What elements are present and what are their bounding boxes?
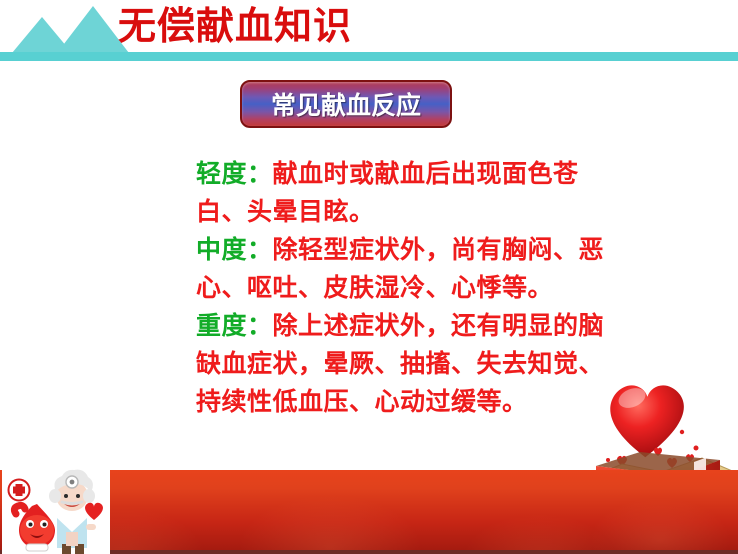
page-title: 无偿献血知识 [118, 1, 352, 51]
slide-header: 无偿献血知识 [0, 0, 738, 62]
red-cross-icon [9, 480, 30, 501]
doctor-blood-drop-mascot [2, 462, 110, 554]
bottom-band-edge [0, 550, 738, 554]
severity-paragraph-moderate: 中度：除轻型症状外，尚有胸闷、恶心、呕吐、皮肤湿冷、心悸等。 [196, 231, 626, 307]
section-badge: 常见献血反应 [240, 80, 452, 128]
section-badge-label: 常见献血反应 [242, 82, 450, 130]
bottom-decorative-band [0, 470, 738, 554]
severity-paragraph-mild: 轻度：献血时或献血后出现面色苍白、头晕目眩。 [196, 155, 626, 231]
slide-canvas: 无偿献血知识 常见献血反应 轻度：献血时或献血后出现面色苍白、头晕目眩。 中度：… [0, 0, 738, 554]
severity-label-severe: 重度： [196, 311, 273, 340]
heart-icon [610, 384, 684, 457]
severity-label-moderate: 中度： [196, 235, 273, 264]
severity-label-mild: 轻度： [196, 159, 273, 188]
header-divider-rule [0, 52, 738, 61]
